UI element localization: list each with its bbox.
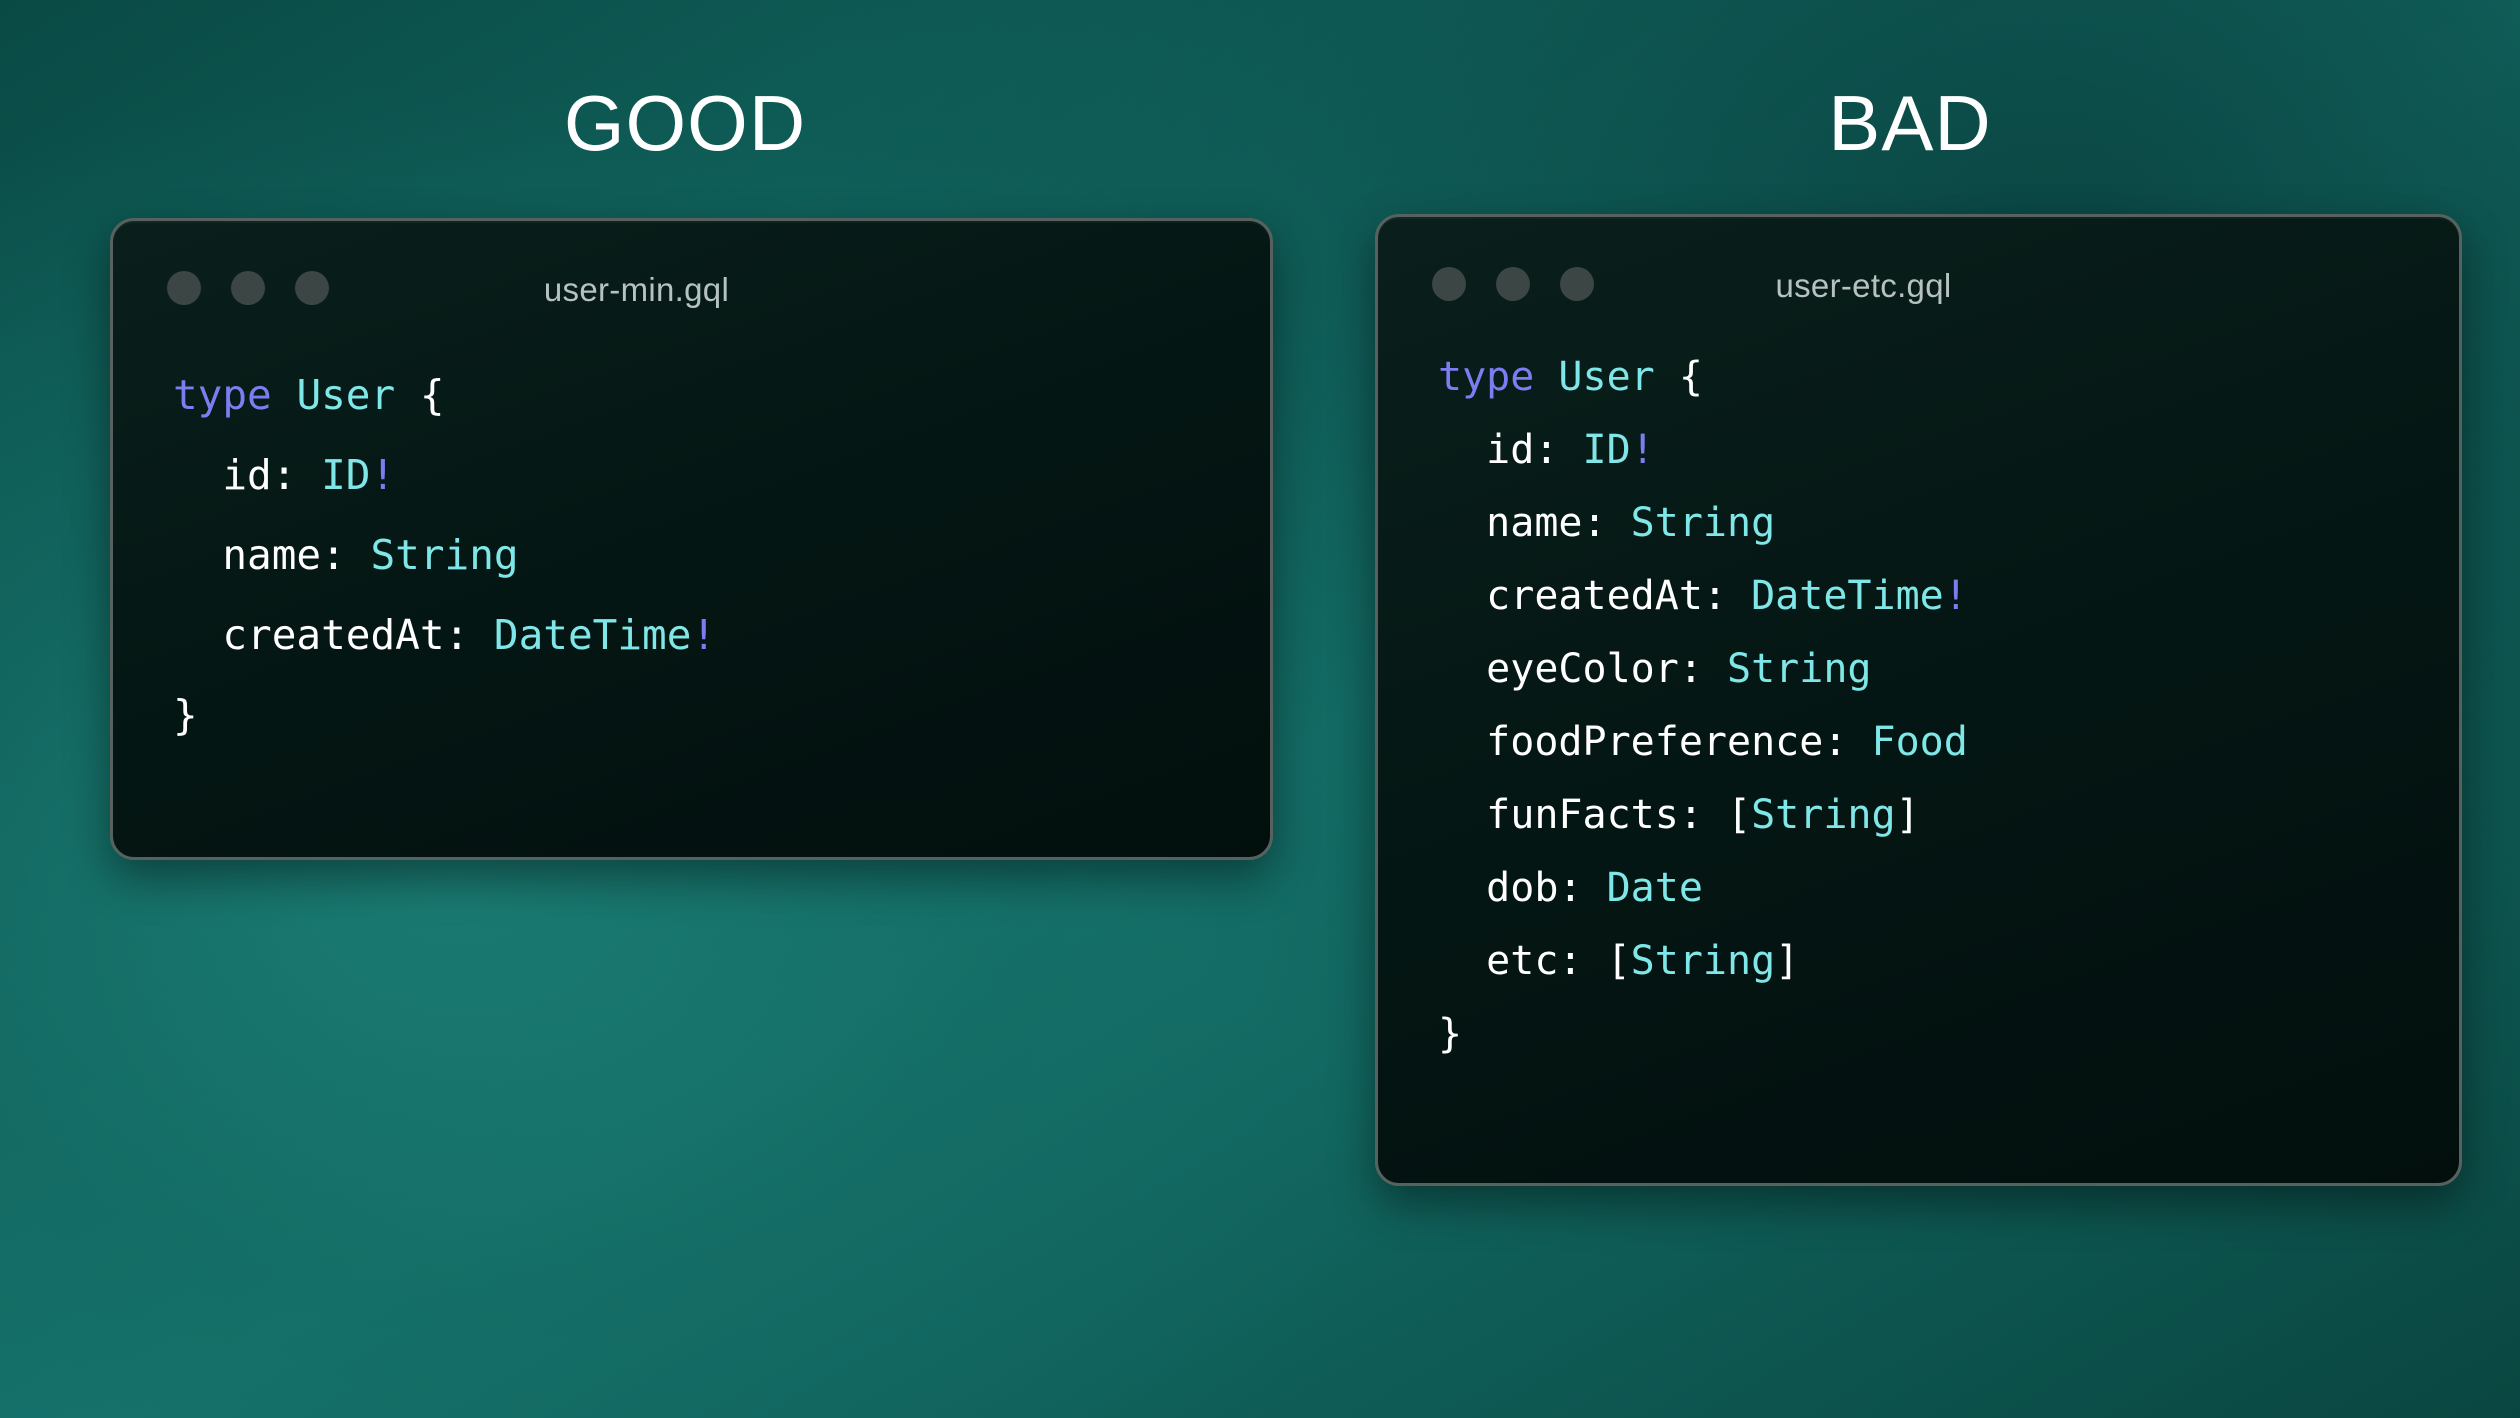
code-card-good: user-min.gql type User { id: ID! name: S… <box>110 218 1273 860</box>
code-token: String <box>1631 500 1776 546</box>
code-token: DateTime <box>494 611 691 659</box>
code-token: ! <box>691 611 716 659</box>
titlebar-bad: user-etc.gql <box>1378 217 2459 313</box>
code-token: ! <box>1944 573 1968 619</box>
code-token: Date <box>1607 865 1703 911</box>
code-token: String <box>1631 938 1776 984</box>
code-token: ID <box>321 451 370 499</box>
code-token: { <box>1655 354 1703 400</box>
code-token: } <box>173 691 198 739</box>
filename-label-bad: user-etc.gql <box>1378 267 2459 305</box>
code-token: ! <box>370 451 395 499</box>
code-token: [ <box>1607 938 1631 984</box>
code-token: [ <box>1727 792 1751 838</box>
code-token: ] <box>1896 792 1920 838</box>
code-token: DateTime <box>1751 573 1944 619</box>
code-token: foodPreference: <box>1438 719 1871 765</box>
heading-good: GOOD <box>0 84 1370 162</box>
code-token: etc: <box>1438 938 1607 984</box>
code-token: Food <box>1871 719 1967 765</box>
code-token: ] <box>1775 938 1799 984</box>
code-block-good: type User { id: ID! name: String created… <box>113 317 1270 755</box>
code-token <box>1534 354 1558 400</box>
code-token: createdAt: <box>1438 573 1751 619</box>
code-token: eyeColor: <box>1438 646 1727 692</box>
code-token: String <box>1751 792 1896 838</box>
code-token: type <box>1438 354 1534 400</box>
code-token: createdAt: <box>173 611 494 659</box>
code-token: { <box>395 371 444 419</box>
code-token: } <box>1438 1011 1462 1057</box>
code-token: dob: <box>1438 865 1607 911</box>
code-token: type <box>173 371 272 419</box>
code-token <box>272 371 297 419</box>
code-token: id: <box>173 451 321 499</box>
code-token: User <box>1558 354 1654 400</box>
code-token: name: <box>173 531 370 579</box>
filename-label-good: user-min.gql <box>113 271 1270 309</box>
code-card-bad: user-etc.gql type User { id: ID! name: S… <box>1375 214 2462 1186</box>
code-token: id: <box>1438 427 1583 473</box>
titlebar-good: user-min.gql <box>113 221 1270 317</box>
code-token: funFacts: <box>1438 792 1727 838</box>
code-token: ID <box>1583 427 1631 473</box>
code-token: name: <box>1438 500 1631 546</box>
code-token: String <box>1727 646 1872 692</box>
code-token: ! <box>1631 427 1655 473</box>
heading-bad: BAD <box>1360 84 2460 162</box>
code-block-bad: type User { id: ID! name: String created… <box>1378 313 2459 1071</box>
code-token: String <box>370 531 518 579</box>
code-token: User <box>296 371 395 419</box>
